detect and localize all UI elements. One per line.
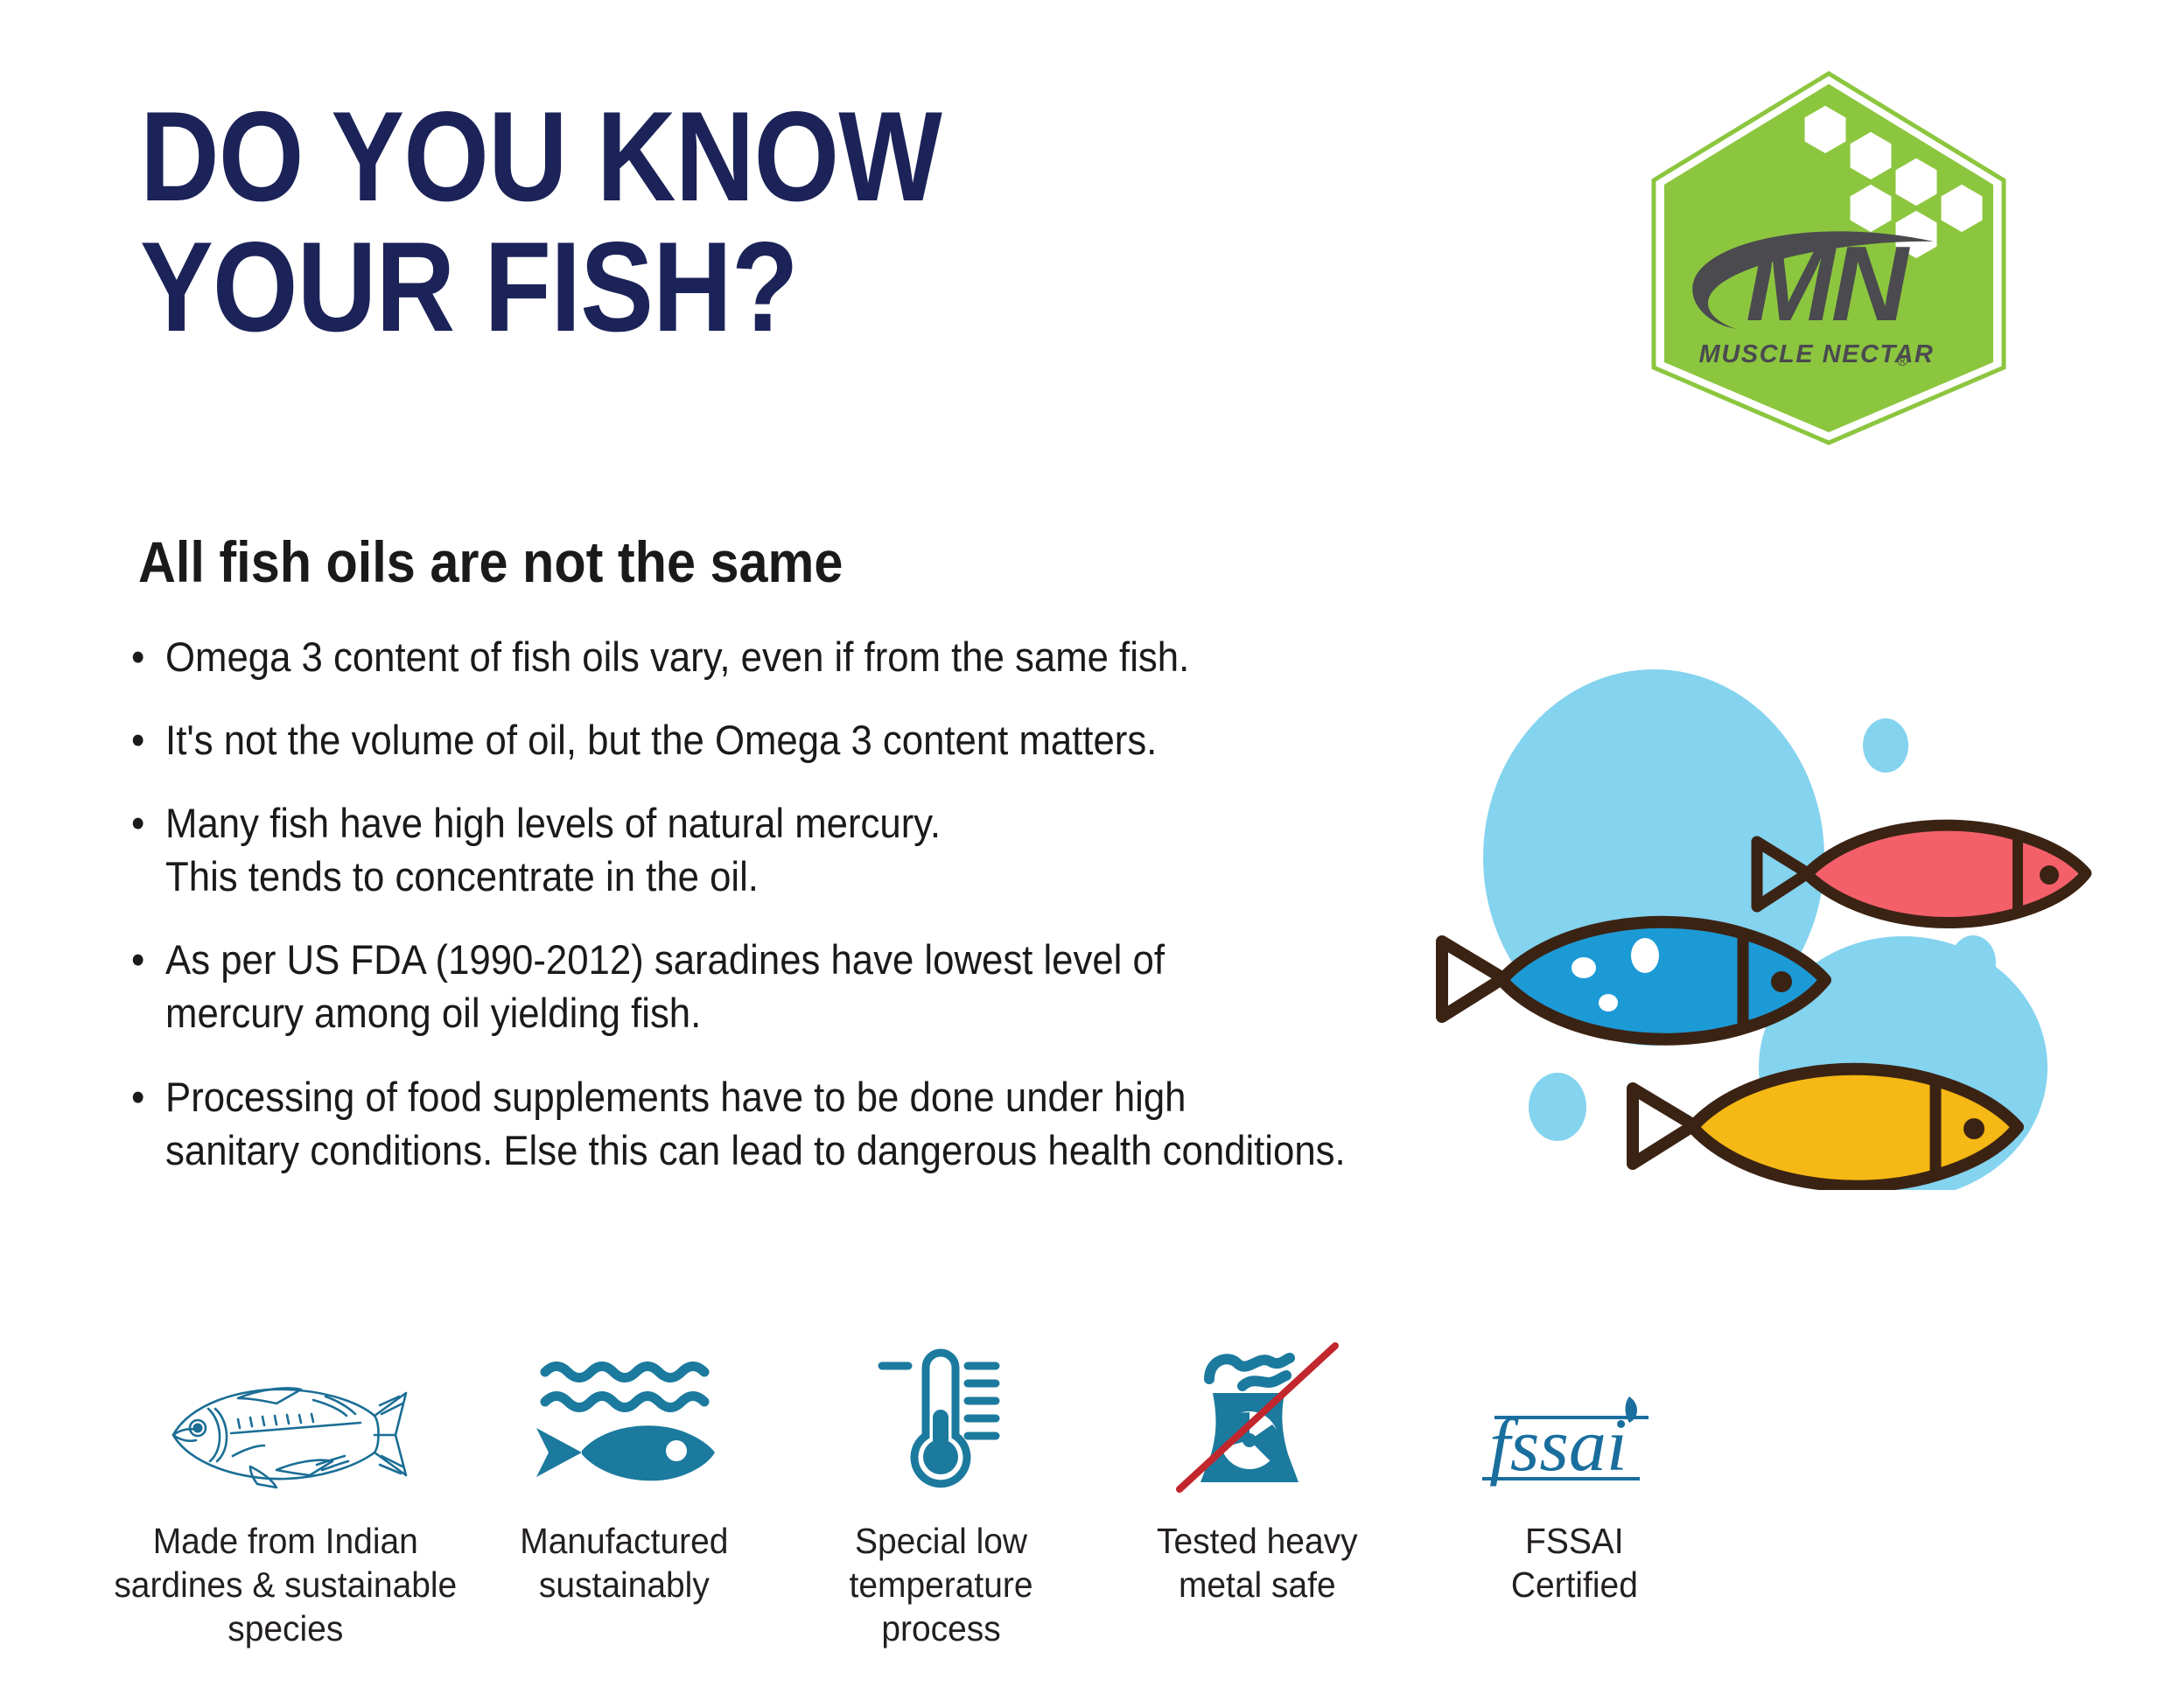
small-bubble-icon <box>1950 935 1996 990</box>
feature-label-line: Tested heavy <box>1157 1519 1358 1563</box>
feature-label: FSSAI Certified <box>1511 1519 1638 1606</box>
feature-icon-slot <box>528 1330 720 1496</box>
list-item: • Many fish have high levels of natural … <box>131 796 1401 903</box>
feature-icon-slot: fssai <box>1473 1330 1675 1496</box>
wave-line-icon <box>545 1367 704 1378</box>
feature-item-fssai: fssai FSSAI Certified <box>1416 1330 1732 1606</box>
section-subheading: All fish oils are not the same <box>138 532 843 592</box>
feature-item-heavy-metal-safe: Tested heavy metal safe <box>1099 1330 1416 1606</box>
bullet-marker-icon: • <box>131 713 144 766</box>
fish-body-icon <box>582 1425 715 1480</box>
fish-illustration-svg <box>1400 612 2135 1190</box>
feature-label: Tested heavy metal safe <box>1157 1519 1358 1606</box>
feature-item-sardines: Made from Indian sardines & sustainable … <box>105 1330 466 1650</box>
no-heavy-metal-cooling-tower-icon <box>1174 1339 1340 1496</box>
feature-label-line: metal safe <box>1157 1563 1358 1606</box>
list-item-line: It's not the volume of oil, but the Omeg… <box>165 713 1401 766</box>
feature-label: Made from Indian sardines & sustainable … <box>114 1519 457 1650</box>
page-title: DO YOU KNOW YOUR FISH? <box>140 92 1231 353</box>
feature-label: Special low temperature process <box>849 1519 1032 1650</box>
feature-label-line: temperature <box>849 1563 1032 1606</box>
feature-icon-slot <box>866 1330 1015 1496</box>
list-item-text: Processing of food supplements have to b… <box>165 1070 1401 1177</box>
brand-logo: MN MUSCLE NECTAR ® <box>1645 70 2012 446</box>
list-item-line: mercury among oil yielding fish. <box>165 986 1401 1039</box>
list-item: • As per US FDA (1990-2012) saradines ha… <box>131 933 1401 1039</box>
fssai-logo-icon: fssai <box>1473 1382 1675 1496</box>
smoke-icon <box>1209 1358 1290 1386</box>
list-item-line: Many fish have high levels of natural me… <box>165 796 1401 850</box>
fish-tail-icon <box>536 1428 582 1477</box>
feature-label-line: FSSAI <box>1511 1519 1638 1563</box>
list-item: • Processing of food supplements have to… <box>131 1070 1401 1177</box>
feature-label-line: sustainably <box>520 1563 728 1606</box>
bullet-marker-icon: • <box>131 1070 144 1123</box>
thermometer-ticks-icon <box>968 1366 996 1436</box>
feature-label: Manufactured sustainably <box>520 1519 728 1606</box>
blue-fish-icon <box>1442 922 1825 1039</box>
bullet-marker-icon: • <box>131 933 144 986</box>
fish-illustration <box>1400 612 2135 1190</box>
list-item-text: Omega 3 content of fish oils vary, even … <box>165 630 1401 683</box>
list-item-line: As per US FDA (1990-2012) saradines have… <box>165 933 1401 986</box>
list-item-text: Many fish have high levels of natural me… <box>165 796 1401 903</box>
small-bubble-icon <box>1863 718 1908 773</box>
wave-line-icon <box>545 1396 704 1408</box>
sardine-line-drawing-icon <box>154 1365 416 1496</box>
feature-label-line: sardines & sustainable <box>114 1563 457 1606</box>
fssai-wordmark: fssai <box>1489 1403 1627 1487</box>
bullet-marker-icon: • <box>131 796 144 850</box>
feature-label-line: Made from Indian <box>114 1519 457 1563</box>
list-item-line: sanitary conditions. Else this can lead … <box>165 1123 1401 1177</box>
logo-monogram: MN <box>1746 224 1911 343</box>
muscle-nectar-hexagon-badge-icon: MN MUSCLE NECTAR ® <box>1645 70 2012 446</box>
feature-icon-slot <box>1174 1330 1340 1496</box>
feature-label-line: Certified <box>1511 1563 1638 1606</box>
page-title-line-1: DO YOU KNOW <box>140 92 1231 222</box>
feature-label-line: Special low <box>849 1519 1032 1563</box>
infographic-page: DO YOU KNOW YOUR FISH? <box>0 0 2170 1708</box>
feature-label-line: process <box>849 1606 1032 1650</box>
fish-eye-icon <box>666 1440 687 1461</box>
fact-bullet-list: • Omega 3 content of fish oils vary, eve… <box>131 630 1496 1207</box>
registered-trademark-icon: ® <box>1897 353 1908 369</box>
feature-item-low-temperature: Special low temperature process <box>782 1330 1099 1650</box>
yellow-fish-icon <box>1633 1069 2018 1186</box>
small-bubble-icon <box>1529 1073 1586 1141</box>
feature-label-line: species <box>114 1606 457 1650</box>
feature-badge-row: Made from Indian sardines & sustainable … <box>105 1330 1732 1650</box>
list-item-line: Processing of food supplements have to b… <box>165 1070 1401 1123</box>
thermometer-mercury-icon <box>933 1410 948 1459</box>
feature-label-line: Manufactured <box>520 1519 728 1563</box>
thermometer-low-temperature-icon <box>866 1343 1015 1496</box>
list-item-line: This tends to concentrate in the oil. <box>165 850 1401 903</box>
list-item-text: As per US FDA (1990-2012) saradines have… <box>165 933 1401 1039</box>
list-item-text: It's not the volume of oil, but the Omeg… <box>165 713 1401 766</box>
bullet-marker-icon: • <box>131 630 144 683</box>
fish-with-waves-icon <box>528 1356 720 1496</box>
list-item: • Omega 3 content of fish oils vary, eve… <box>131 630 1401 683</box>
list-item: • It's not the volume of oil, but the Om… <box>131 713 1401 766</box>
feature-icon-slot <box>154 1330 416 1496</box>
page-title-line-2: YOUR FISH? <box>140 222 1231 353</box>
list-item-line: Omega 3 content of fish oils vary, even … <box>165 630 1401 683</box>
feature-item-sustainable: Manufactured sustainably <box>466 1330 783 1606</box>
